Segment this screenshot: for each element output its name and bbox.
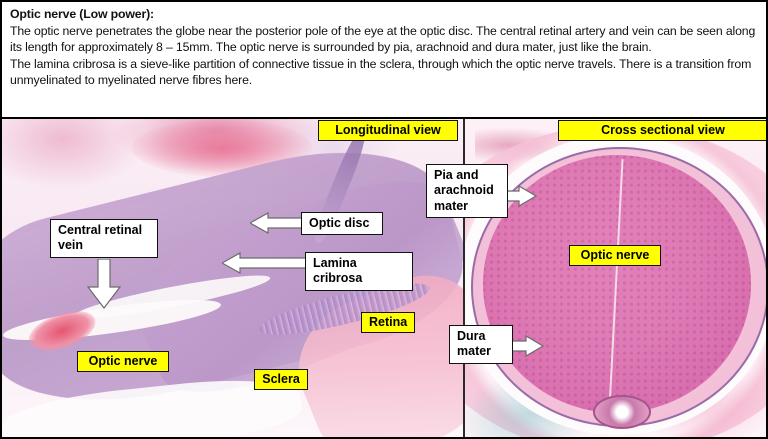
pia-arachnoid-arrow <box>507 185 537 207</box>
cross-sectional-histology-image <box>465 119 768 437</box>
optic-disc-arrow <box>250 212 306 234</box>
label-pia-and-arachnoid-mater: Pia and arachnoid mater <box>426 164 508 218</box>
label-optic-disc: Optic disc <box>301 212 383 235</box>
caption-paragraph-1: The optic nerve penetrates the globe nea… <box>10 23 758 56</box>
label-optic-nerve-cross-sectional: Optic nerve <box>569 245 661 266</box>
dura-mater-arrow <box>512 335 544 357</box>
label-optic-nerve-longitudinal: Optic nerve <box>77 351 169 372</box>
label-sclera: Sclera <box>254 369 308 390</box>
caption-title: Optic nerve (Low power): <box>10 6 758 23</box>
caption-paragraph-2: The lamina cribrosa is a sieve-like part… <box>10 56 758 89</box>
label-lamina-cribrosa: Lamina cribrosa <box>305 252 413 291</box>
label-retina: Retina <box>361 312 415 333</box>
central-retinal-vein-arrow <box>87 259 121 309</box>
lamina-cribrosa-arrow <box>222 252 310 274</box>
cross-sectional-panel <box>465 119 768 437</box>
slide-page: Optic nerve (Low power): The optic nerve… <box>0 0 768 439</box>
figure-area: Longitudinal view Cross sectional view C… <box>0 119 768 439</box>
label-central-retinal-vein: Central retinal vein <box>50 219 158 258</box>
label-dura-mater: Dura mater <box>449 325 513 364</box>
label-longitudinal-view: Longitudinal view <box>318 120 458 141</box>
label-cross-sectional-view: Cross sectional view <box>558 120 768 141</box>
caption-panel: Optic nerve (Low power): The optic nerve… <box>0 0 768 119</box>
